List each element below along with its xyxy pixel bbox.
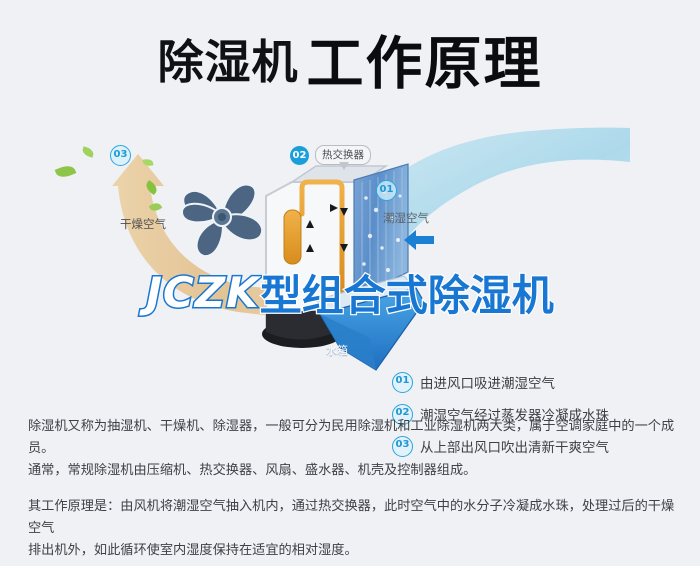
dry-air-label: 干燥空气: [120, 216, 166, 232]
step-number: 01: [392, 372, 413, 393]
diagram-stage: 干燥空气 潮湿空气 03 02 01 热交换器 水箱 01 由进风口吸进潮湿空气…: [0, 118, 700, 408]
diagram-badge-01: 01: [376, 180, 397, 201]
paragraph-gap: [28, 482, 678, 496]
title-part-2: 工作原理: [307, 31, 543, 97]
step-text: 由进风口吸进潮湿空气: [420, 372, 555, 392]
dehumidifier-machine-illustration: [258, 152, 438, 382]
paragraph-2-line-1: 其工作原理是：由风机将潮湿空气抽入机内，通过热交换器，此时空气中的水分子冷凝成水…: [28, 496, 678, 540]
title-part-1: 除湿机: [158, 35, 299, 89]
infographic-page: 除湿机工作原理: [0, 0, 700, 566]
humid-air-label: 潮湿空气: [383, 210, 429, 226]
diagram-badge-03: 03: [110, 145, 131, 166]
list-item: 01 由进风口吸进潮湿空气: [392, 366, 692, 398]
water-tank-label: 水箱: [326, 342, 348, 358]
page-title: 除湿机工作原理: [0, 18, 700, 100]
paragraph-2-line-2: 排出机外，如此循环使室内湿度保持在适宜的相对湿度。: [28, 540, 678, 562]
body-copy: 除湿机又称为抽湿机、干燥机、除湿器，一般可分为民用除湿机和工业除湿机两大类，属于…: [28, 416, 678, 562]
diagram-badge-02: 02: [290, 146, 309, 165]
paragraph-1-line-1: 除湿机又称为抽湿机、干燥机、除湿器，一般可分为民用除湿机和工业除湿机两大类，属于…: [28, 416, 678, 460]
paragraph-1-line-2: 通常，常规除湿机由压缩机、热交换器、风扇、盛水器、机壳及控制器组成。: [28, 460, 678, 482]
callout-tail-icon: [339, 162, 349, 170]
